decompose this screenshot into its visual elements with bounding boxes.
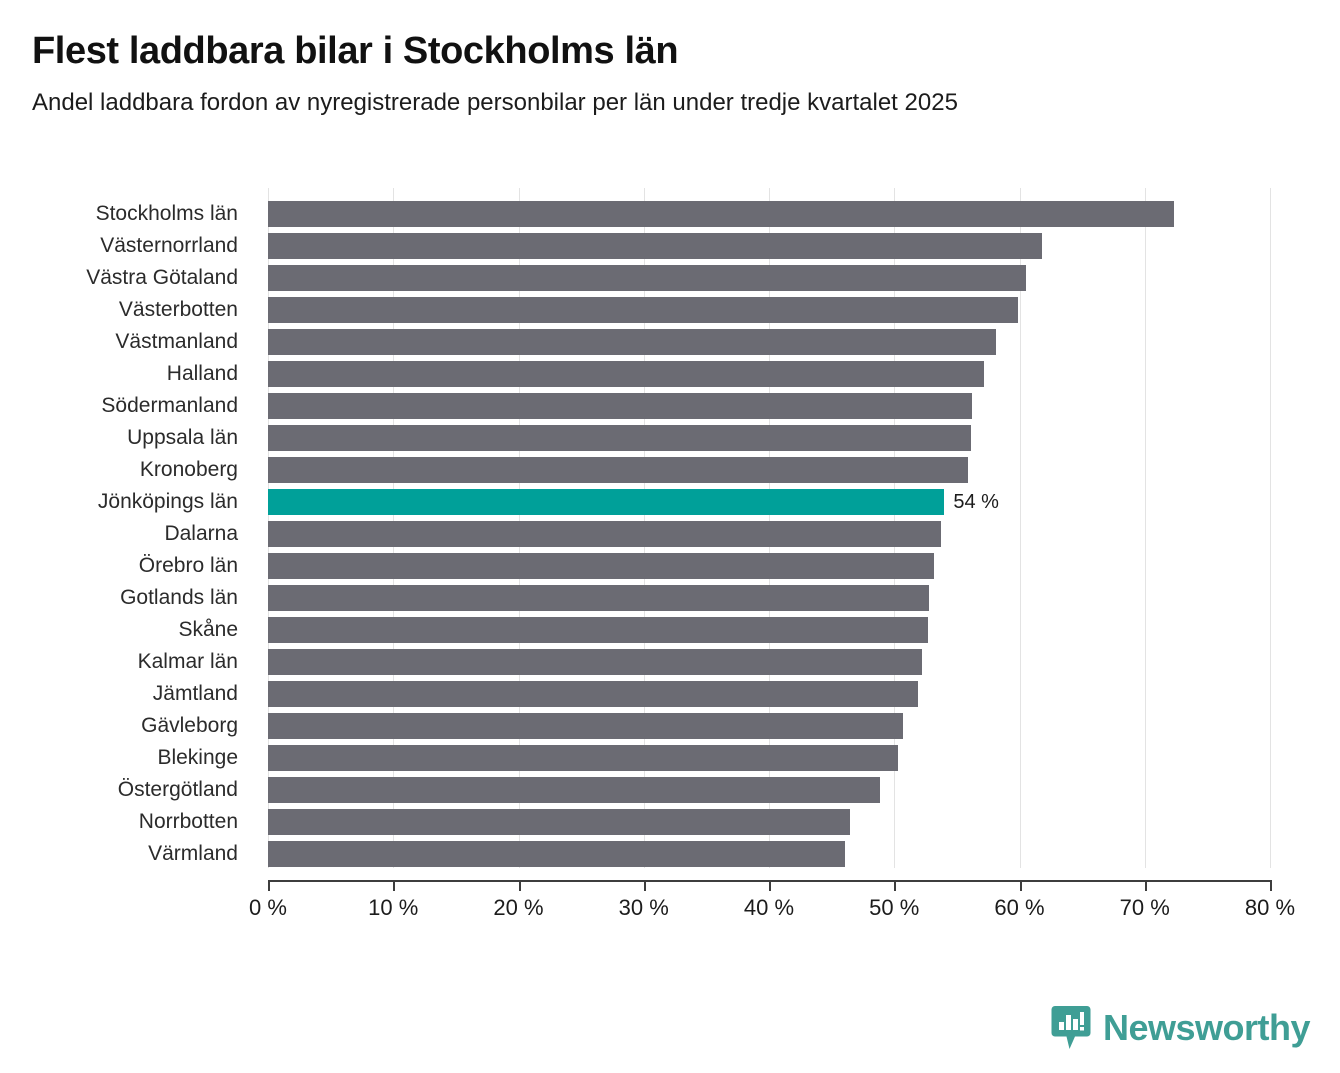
x-tick-mark [769, 880, 771, 891]
bar [268, 745, 898, 771]
gridline-80 [1270, 188, 1271, 868]
bar [268, 361, 984, 387]
page-title: Flest laddbara bilar i Stockholms län [32, 30, 1308, 73]
bar [268, 553, 934, 579]
bar-row [268, 326, 1270, 358]
y-axis-label: Östergötland [0, 774, 252, 806]
bar-row: 54 % [268, 486, 1270, 518]
bar [268, 329, 996, 355]
bar [268, 233, 1042, 259]
bar-row [268, 582, 1270, 614]
x-tick-label: 50 % [869, 895, 919, 921]
y-axis-label: Jönköpings län [0, 486, 252, 518]
bar-row [268, 358, 1270, 390]
bar [268, 425, 971, 451]
bar [268, 777, 880, 803]
bar-row [268, 678, 1270, 710]
bar-row [268, 294, 1270, 326]
y-axis-label: Gävleborg [0, 710, 252, 742]
bar [268, 809, 850, 835]
y-axis-label: Kalmar län [0, 646, 252, 678]
plot-area: 54 % [268, 188, 1270, 868]
x-tick-label: 0 % [249, 895, 287, 921]
bar-row [268, 710, 1270, 742]
bar [268, 585, 929, 611]
footer-branding: Newsworthy [1051, 1005, 1310, 1051]
x-tick-label: 20 % [493, 895, 543, 921]
bar [268, 297, 1018, 323]
bar-row [268, 454, 1270, 486]
x-tick-label: 10 % [368, 895, 418, 921]
bar-row [268, 422, 1270, 454]
bar-row [268, 742, 1270, 774]
x-tick-label: 70 % [1120, 895, 1170, 921]
y-axis-label: Västernorrland [0, 230, 252, 262]
bar-row [268, 838, 1270, 870]
y-axis-label: Jämtland [0, 678, 252, 710]
newsworthy-bar-chart-bubble-icon [1051, 1005, 1091, 1051]
x-axis: 0 %10 %20 %30 %40 %50 %60 %70 %80 % [268, 880, 1270, 940]
x-tick-label: 60 % [994, 895, 1044, 921]
bar-highlighted [268, 489, 944, 515]
y-axis-label: Blekinge [0, 742, 252, 774]
bar [268, 617, 928, 643]
bar [268, 201, 1174, 227]
bar-row [268, 774, 1270, 806]
y-axis-label: Västmanland [0, 326, 252, 358]
bar-chart: Stockholms länVästernorrlandVästra Götal… [0, 178, 1340, 918]
x-tick-mark [644, 880, 646, 891]
y-axis-label: Gotlands län [0, 582, 252, 614]
y-axis-label: Värmland [0, 838, 252, 870]
y-axis-label: Södermanland [0, 390, 252, 422]
bar [268, 713, 903, 739]
y-axis-label: Stockholms län [0, 198, 252, 230]
bar [268, 457, 968, 483]
x-tick-mark [393, 880, 395, 891]
y-axis-label: Västerbotten [0, 294, 252, 326]
y-axis-label: Halland [0, 358, 252, 390]
x-tick-mark [894, 880, 896, 891]
x-tick-label: 80 % [1245, 895, 1295, 921]
bar [268, 649, 922, 675]
y-axis-label: Uppsala län [0, 422, 252, 454]
x-tick-mark [1020, 880, 1022, 891]
x-tick-mark [268, 880, 270, 891]
y-axis-label: Norrbotten [0, 806, 252, 838]
y-axis-label: Västra Götaland [0, 262, 252, 294]
x-tick-mark [1145, 880, 1147, 891]
y-axis-label: Kronoberg [0, 454, 252, 486]
bar-row [268, 550, 1270, 582]
bar-value-label: 54 % [944, 489, 999, 515]
x-tick-label: 30 % [619, 895, 669, 921]
bar [268, 521, 941, 547]
chart-header: Flest laddbara bilar i Stockholms län An… [0, 0, 1340, 117]
bar-row [268, 614, 1270, 646]
bar [268, 841, 845, 867]
bar-row [268, 198, 1270, 230]
x-tick-mark [1270, 880, 1272, 891]
y-axis-label: Dalarna [0, 518, 252, 550]
bar-row [268, 262, 1270, 294]
bar [268, 265, 1026, 291]
y-axis-category-labels: Stockholms länVästernorrlandVästra Götal… [0, 198, 252, 870]
bar-row [268, 230, 1270, 262]
bar-rows: 54 % [268, 198, 1270, 870]
chart-subtitle: Andel laddbara fordon av nyregistrerade … [32, 89, 1308, 118]
x-tick-label: 40 % [744, 895, 794, 921]
y-axis-label: Skåne [0, 614, 252, 646]
bar-row [268, 806, 1270, 838]
brand-name: Newsworthy [1103, 1010, 1310, 1046]
x-tick-mark [519, 880, 521, 891]
bar-row [268, 518, 1270, 550]
y-axis-label: Örebro län [0, 550, 252, 582]
bar-row [268, 390, 1270, 422]
bar [268, 681, 918, 707]
bar-row [268, 646, 1270, 678]
bar [268, 393, 972, 419]
